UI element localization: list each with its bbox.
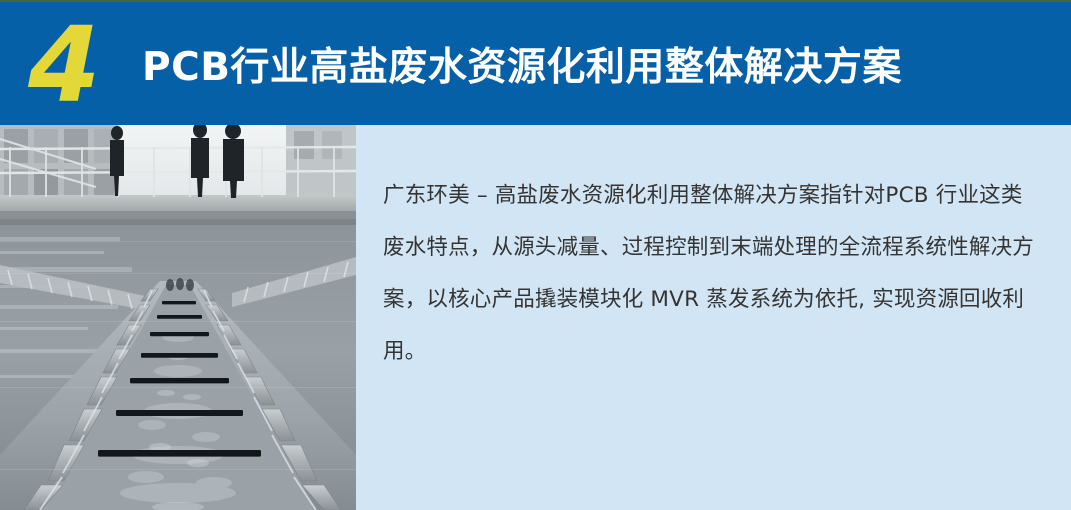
wastewater-plant-photo (0, 125, 356, 510)
plant-photo-illustration (0, 125, 356, 510)
page-title: PCB行业高盐废水资源化利用整体解决方案 (142, 38, 902, 98)
header-banner: 4 PCB行业高盐废水资源化利用整体解决方案 (0, 0, 1071, 125)
description-panel: 广东环美 – 高盐废水资源化利用整体解决方案指针对PCB 行业这类废水特点，从源… (356, 125, 1071, 510)
section-number: 4 (28, 15, 132, 115)
description-text: 广东环美 – 高盐废水资源化利用整体解决方案指针对PCB 行业这类废水特点，从源… (383, 170, 1041, 378)
solution-banner-card: 4 PCB行业高盐废水资源化利用整体解决方案 (0, 0, 1071, 510)
content-area: 广东环美 – 高盐废水资源化利用整体解决方案指针对PCB 行业这类废水特点，从源… (0, 125, 1071, 510)
